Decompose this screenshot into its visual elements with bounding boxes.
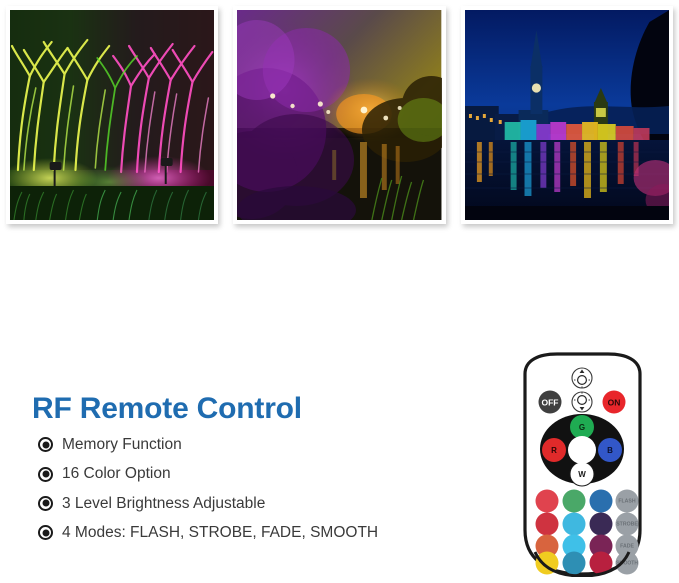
color-button-dark-purple[interactable] bbox=[590, 513, 613, 536]
svg-text:FADE: FADE bbox=[620, 544, 634, 550]
on-button-label: ON bbox=[608, 398, 621, 408]
color-button-cyan[interactable] bbox=[563, 513, 586, 536]
svg-text:R: R bbox=[551, 446, 557, 455]
radio-bullet-icon bbox=[38, 525, 53, 540]
color-button-red[interactable] bbox=[536, 490, 559, 513]
radio-bullet-icon bbox=[38, 496, 53, 511]
green-button[interactable]: G bbox=[570, 415, 594, 439]
product-photo-gallery bbox=[0, 0, 679, 232]
list-item-label: 4 Modes: FLASH, STROBE, FADE, SMOOTH bbox=[62, 523, 378, 542]
color-button-green[interactable] bbox=[563, 490, 586, 513]
svg-text:G: G bbox=[579, 423, 585, 432]
radio-bullet-icon bbox=[38, 467, 53, 482]
on-button[interactable]: ON bbox=[603, 391, 626, 414]
svg-text:FLASH: FLASH bbox=[618, 499, 636, 505]
svg-text:B: B bbox=[607, 446, 613, 455]
list-item: 4 Modes: FLASH, STROBE, FADE, SMOOTH bbox=[38, 523, 472, 542]
red-button[interactable]: R bbox=[542, 438, 566, 462]
list-item: Memory Function bbox=[38, 435, 472, 454]
list-item: 16 Color Option bbox=[38, 464, 472, 483]
list-item-label: 3 Level Brightness Adjustable bbox=[62, 494, 265, 513]
lakeside-trees-purple-lighting bbox=[237, 10, 441, 220]
photo-frame-3[interactable] bbox=[461, 6, 673, 224]
off-button[interactable]: OFF bbox=[539, 391, 562, 414]
brightness-up-icon[interactable] bbox=[572, 368, 592, 388]
color-button-teal[interactable] bbox=[563, 552, 586, 575]
color-button-blue[interactable] bbox=[590, 490, 613, 513]
svg-text:STROBE: STROBE bbox=[616, 522, 638, 528]
page-title: RF Remote Control bbox=[32, 392, 472, 425]
off-button-label: OFF bbox=[542, 398, 559, 408]
photo-frame-1[interactable] bbox=[6, 6, 218, 224]
mode-button-strobe[interactable]: STROBE bbox=[616, 513, 639, 536]
blue-button[interactable]: B bbox=[598, 438, 622, 462]
mode-button-flash[interactable]: FLASH bbox=[616, 490, 639, 513]
color-button-crimson[interactable] bbox=[536, 513, 559, 536]
photo-frame-2[interactable] bbox=[233, 6, 445, 224]
svg-text:W: W bbox=[578, 470, 586, 479]
list-item: 3 Level Brightness Adjustable bbox=[38, 494, 472, 513]
feature-bullet-list: Memory Function 16 Color Option 3 Level … bbox=[32, 435, 472, 543]
feature-block: RF Remote Control Memory Function 16 Col… bbox=[32, 392, 472, 553]
list-item-label: 16 Color Option bbox=[62, 464, 171, 483]
garden-plants-rgb-lighting bbox=[10, 10, 214, 220]
brightness-down-icon[interactable] bbox=[572, 392, 592, 412]
rf-remote-control: OFF ON G R bbox=[495, 352, 670, 577]
center-button[interactable] bbox=[568, 436, 596, 464]
city-riverfront-night-lighting bbox=[465, 10, 669, 220]
white-button[interactable]: W bbox=[570, 462, 594, 486]
list-item-label: Memory Function bbox=[62, 435, 182, 454]
radio-bullet-icon bbox=[38, 437, 53, 452]
